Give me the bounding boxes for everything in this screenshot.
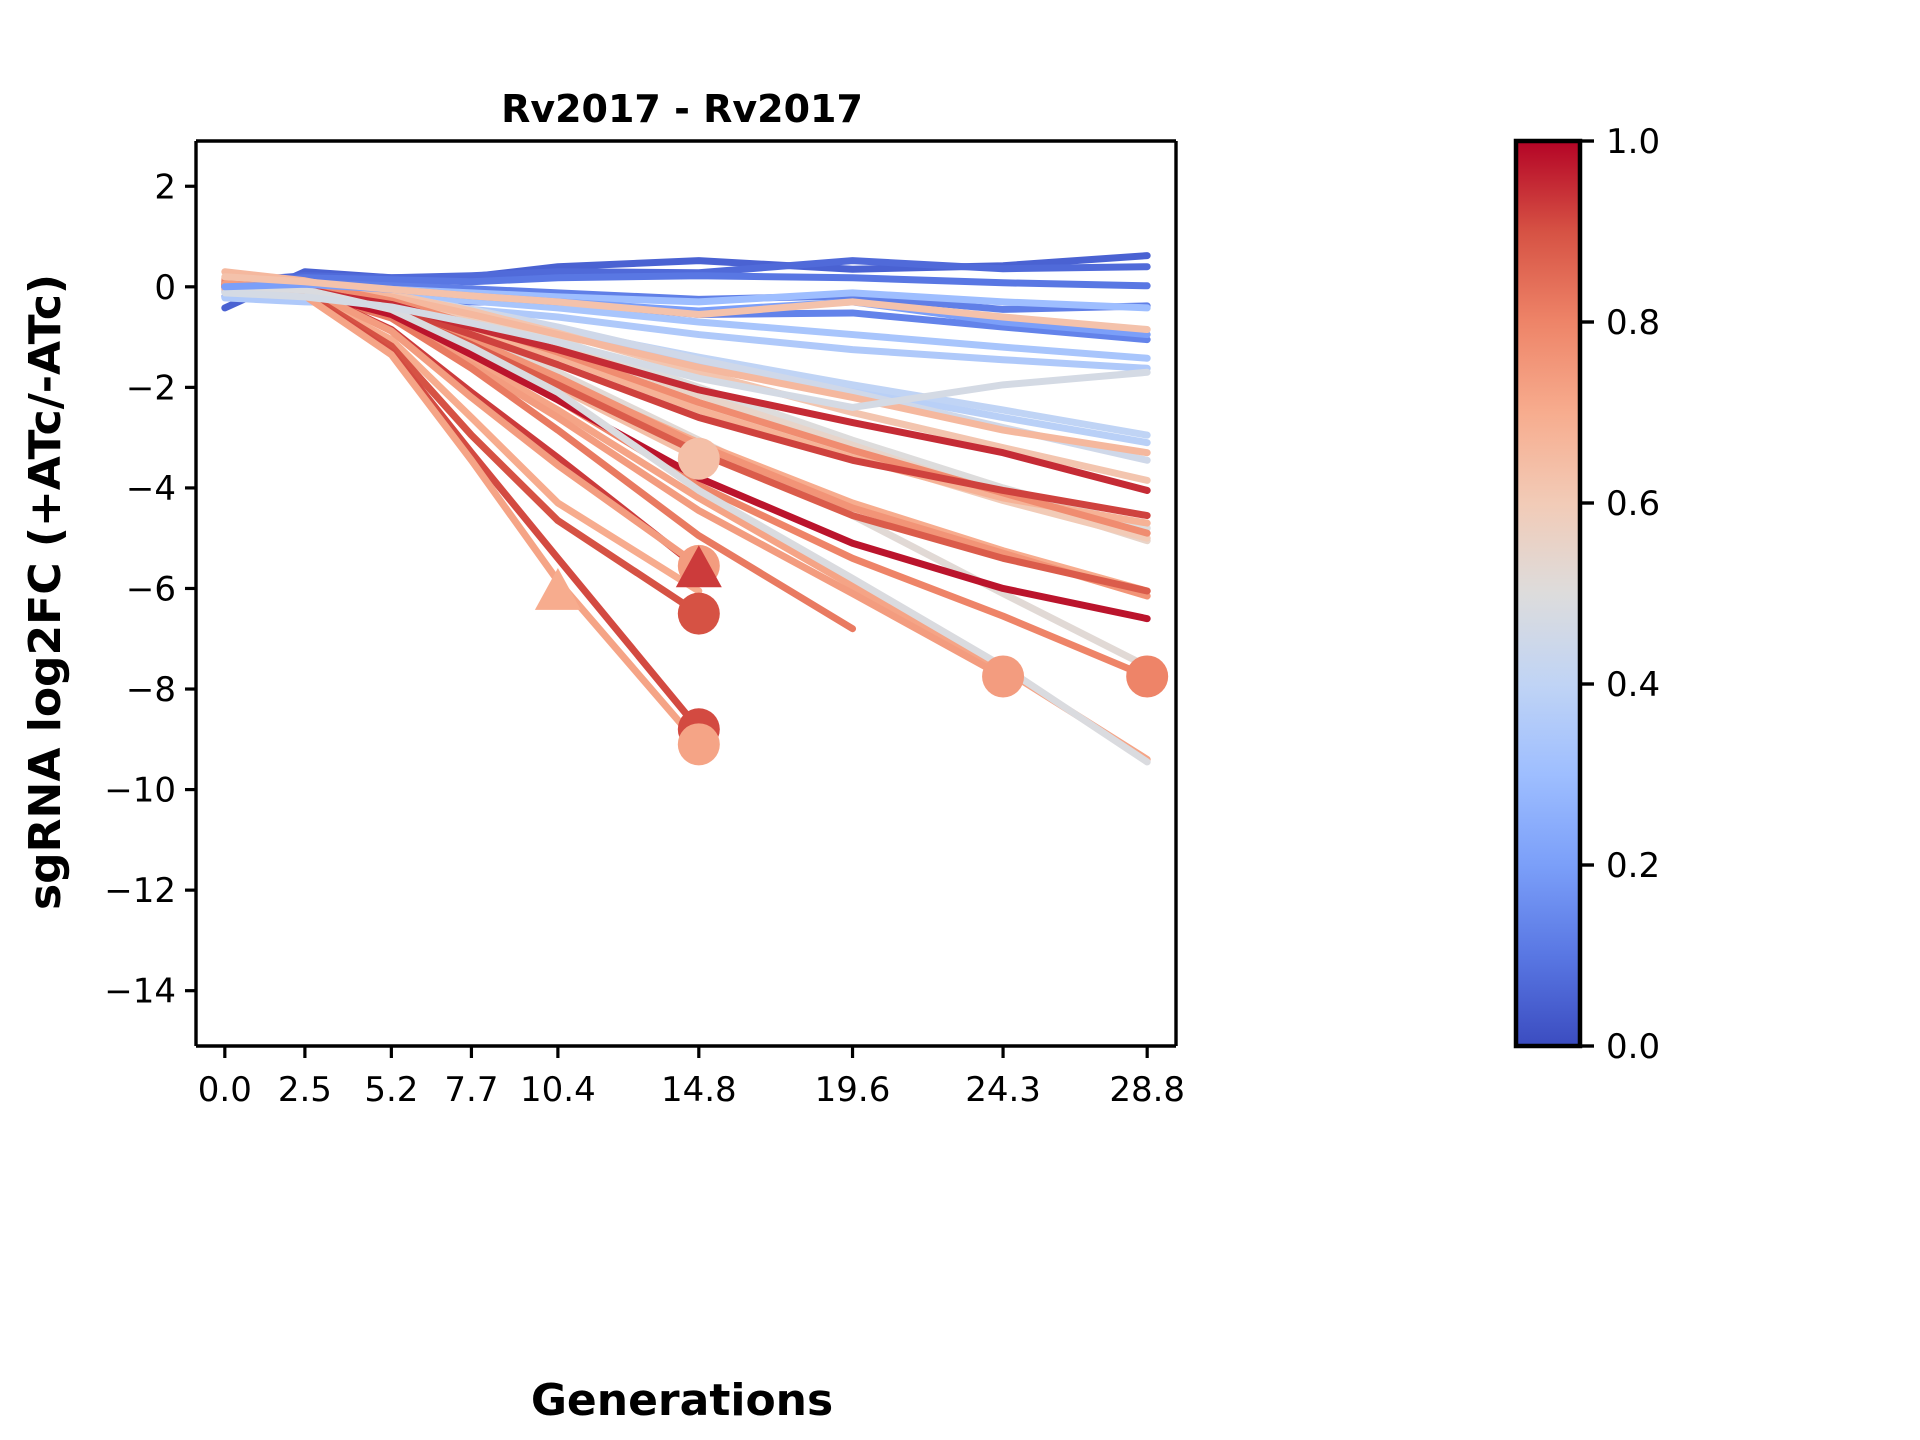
colorbar-tick-label: 0.6 [1606,484,1660,524]
y-axis-label: sgRNA log2FC (+ATc/-ATc) [20,274,71,910]
colorbar-tick-label: 0.8 [1606,303,1660,343]
x-tick-label: 2.5 [278,1070,332,1110]
y-tick-label: −10 [104,771,176,811]
y-tick-label: −14 [104,972,176,1012]
marker-circle [678,593,720,635]
colorbar-tick-label: 0.0 [1606,1027,1660,1067]
x-tick-label: 10.4 [520,1070,596,1110]
colorbar-gradient[interactable] [1516,141,1580,1046]
marker-circle [678,438,720,480]
y-tick-label: −4 [126,469,176,509]
colorbar-tick-label: 1.0 [1606,122,1660,162]
y-tick-label: −12 [104,871,176,911]
y-tick-label: 0 [154,268,176,308]
x-tick-label: 28.8 [1109,1070,1185,1110]
x-axis-label: Generations [531,1375,833,1426]
y-tick-label: −2 [126,368,176,408]
x-tick-label: 5.2 [364,1070,418,1110]
chart-title: Rv2017 - Rv2017 [501,87,863,131]
x-tick-label: 24.3 [965,1070,1041,1110]
colorbar-tick-label: 0.4 [1606,665,1660,705]
colorbar-tick-label: 0.2 [1606,846,1660,886]
chart-svg: Rv2017 - Rv2017 20−2−4−6−8−10−12−140.02.… [0,0,1920,1440]
marker-circle [1126,655,1168,697]
marker-circle [678,723,720,765]
x-tick-label: 14.8 [661,1070,737,1110]
x-tick-label: 0.0 [198,1070,252,1110]
marker-circle [982,655,1024,697]
y-tick-label: −6 [126,569,176,609]
figure-canvas: Rv2017 - Rv2017 20−2−4−6−8−10−12−140.02.… [0,0,1920,1440]
y-tick-label: 2 [154,167,176,207]
x-tick-label: 7.7 [444,1070,498,1110]
y-tick-label: −8 [126,670,176,710]
x-tick-label: 19.6 [815,1070,891,1110]
figure-background [0,0,1920,1440]
